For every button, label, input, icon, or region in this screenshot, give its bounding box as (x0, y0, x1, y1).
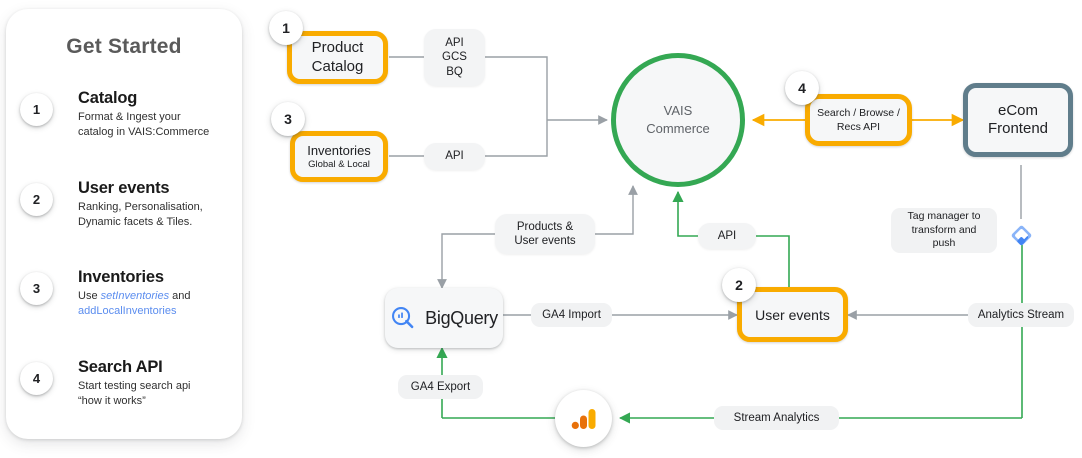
chip-api-inventories: API (424, 143, 485, 170)
diagram-step-badge-1: 1 (269, 11, 303, 45)
architecture-diagram-screenshot: Get Started 1 Catalog Format & Ingest yo… (0, 0, 1082, 458)
node-label-line2: Frontend (988, 120, 1048, 139)
diagram-step-badge-4: 4 (785, 71, 819, 105)
node-label-line1: VAIS (664, 102, 693, 120)
node-label-line1: Product (312, 39, 364, 58)
chip-products-user-events: Products & User events (495, 214, 595, 254)
chip-line-1: Tag manager to (908, 210, 981, 224)
node-label-line1: eCom (998, 102, 1038, 121)
chip-line-3: push (933, 237, 956, 251)
node-ecom-frontend[interactable]: eCom Frontend (963, 83, 1073, 157)
node-label-line2: Global & Local (308, 159, 370, 171)
chip-tag-manager: Tag manager to transform and push (891, 208, 997, 253)
node-inventories[interactable]: Inventories Global & Local (290, 131, 388, 182)
diagram-step-badge-2: 2 (722, 268, 756, 302)
node-google-tag-manager[interactable] (1005, 219, 1038, 252)
google-tag-manager-icon (1005, 219, 1038, 252)
diagram-step-badge-3: 3 (271, 102, 305, 136)
node-label-line1: Search / Browse / (817, 106, 900, 120)
node-label-line2: Catalog (312, 58, 364, 77)
node-label-line2: Commerce (646, 120, 710, 138)
bigquery-label: BigQuery (425, 308, 498, 329)
chip-line-2: GCS (442, 50, 467, 65)
node-user-events[interactable]: User events (737, 287, 848, 342)
flow-diagram: 1 3 4 2 Product Catalog Inventories Glob… (0, 0, 1082, 458)
node-label: User events (755, 307, 830, 323)
chip-line-2: User events (514, 234, 575, 249)
google-analytics-icon (569, 404, 599, 434)
node-bigquery[interactable]: BigQuery (385, 288, 503, 348)
chip-analytics-stream: Analytics Stream (968, 303, 1074, 327)
node-vais-commerce[interactable]: VAIS Commerce (611, 53, 745, 187)
node-label-line1: Inventories (307, 143, 371, 159)
chip-line-1: API (445, 36, 464, 51)
chip-ga4-export: GA4 Export (398, 375, 483, 399)
chip-line-1: Products & (517, 220, 573, 235)
chip-line-2: transform and (912, 224, 977, 238)
node-label-line2: Recs API (837, 120, 880, 134)
node-google-analytics[interactable] (555, 390, 612, 447)
chip-line-3: BQ (446, 65, 463, 80)
chip-stream-analytics: Stream Analytics (714, 406, 839, 430)
node-search-browse-recs-api[interactable]: Search / Browse / Recs API (805, 94, 912, 146)
chip-api-user-events: API (698, 223, 756, 249)
bigquery-icon (390, 305, 416, 331)
chip-api-gcs-bq: API GCS BQ (424, 29, 485, 86)
node-product-catalog[interactable]: Product Catalog (287, 31, 388, 84)
chip-ga4-import: GA4 Import (531, 303, 612, 327)
